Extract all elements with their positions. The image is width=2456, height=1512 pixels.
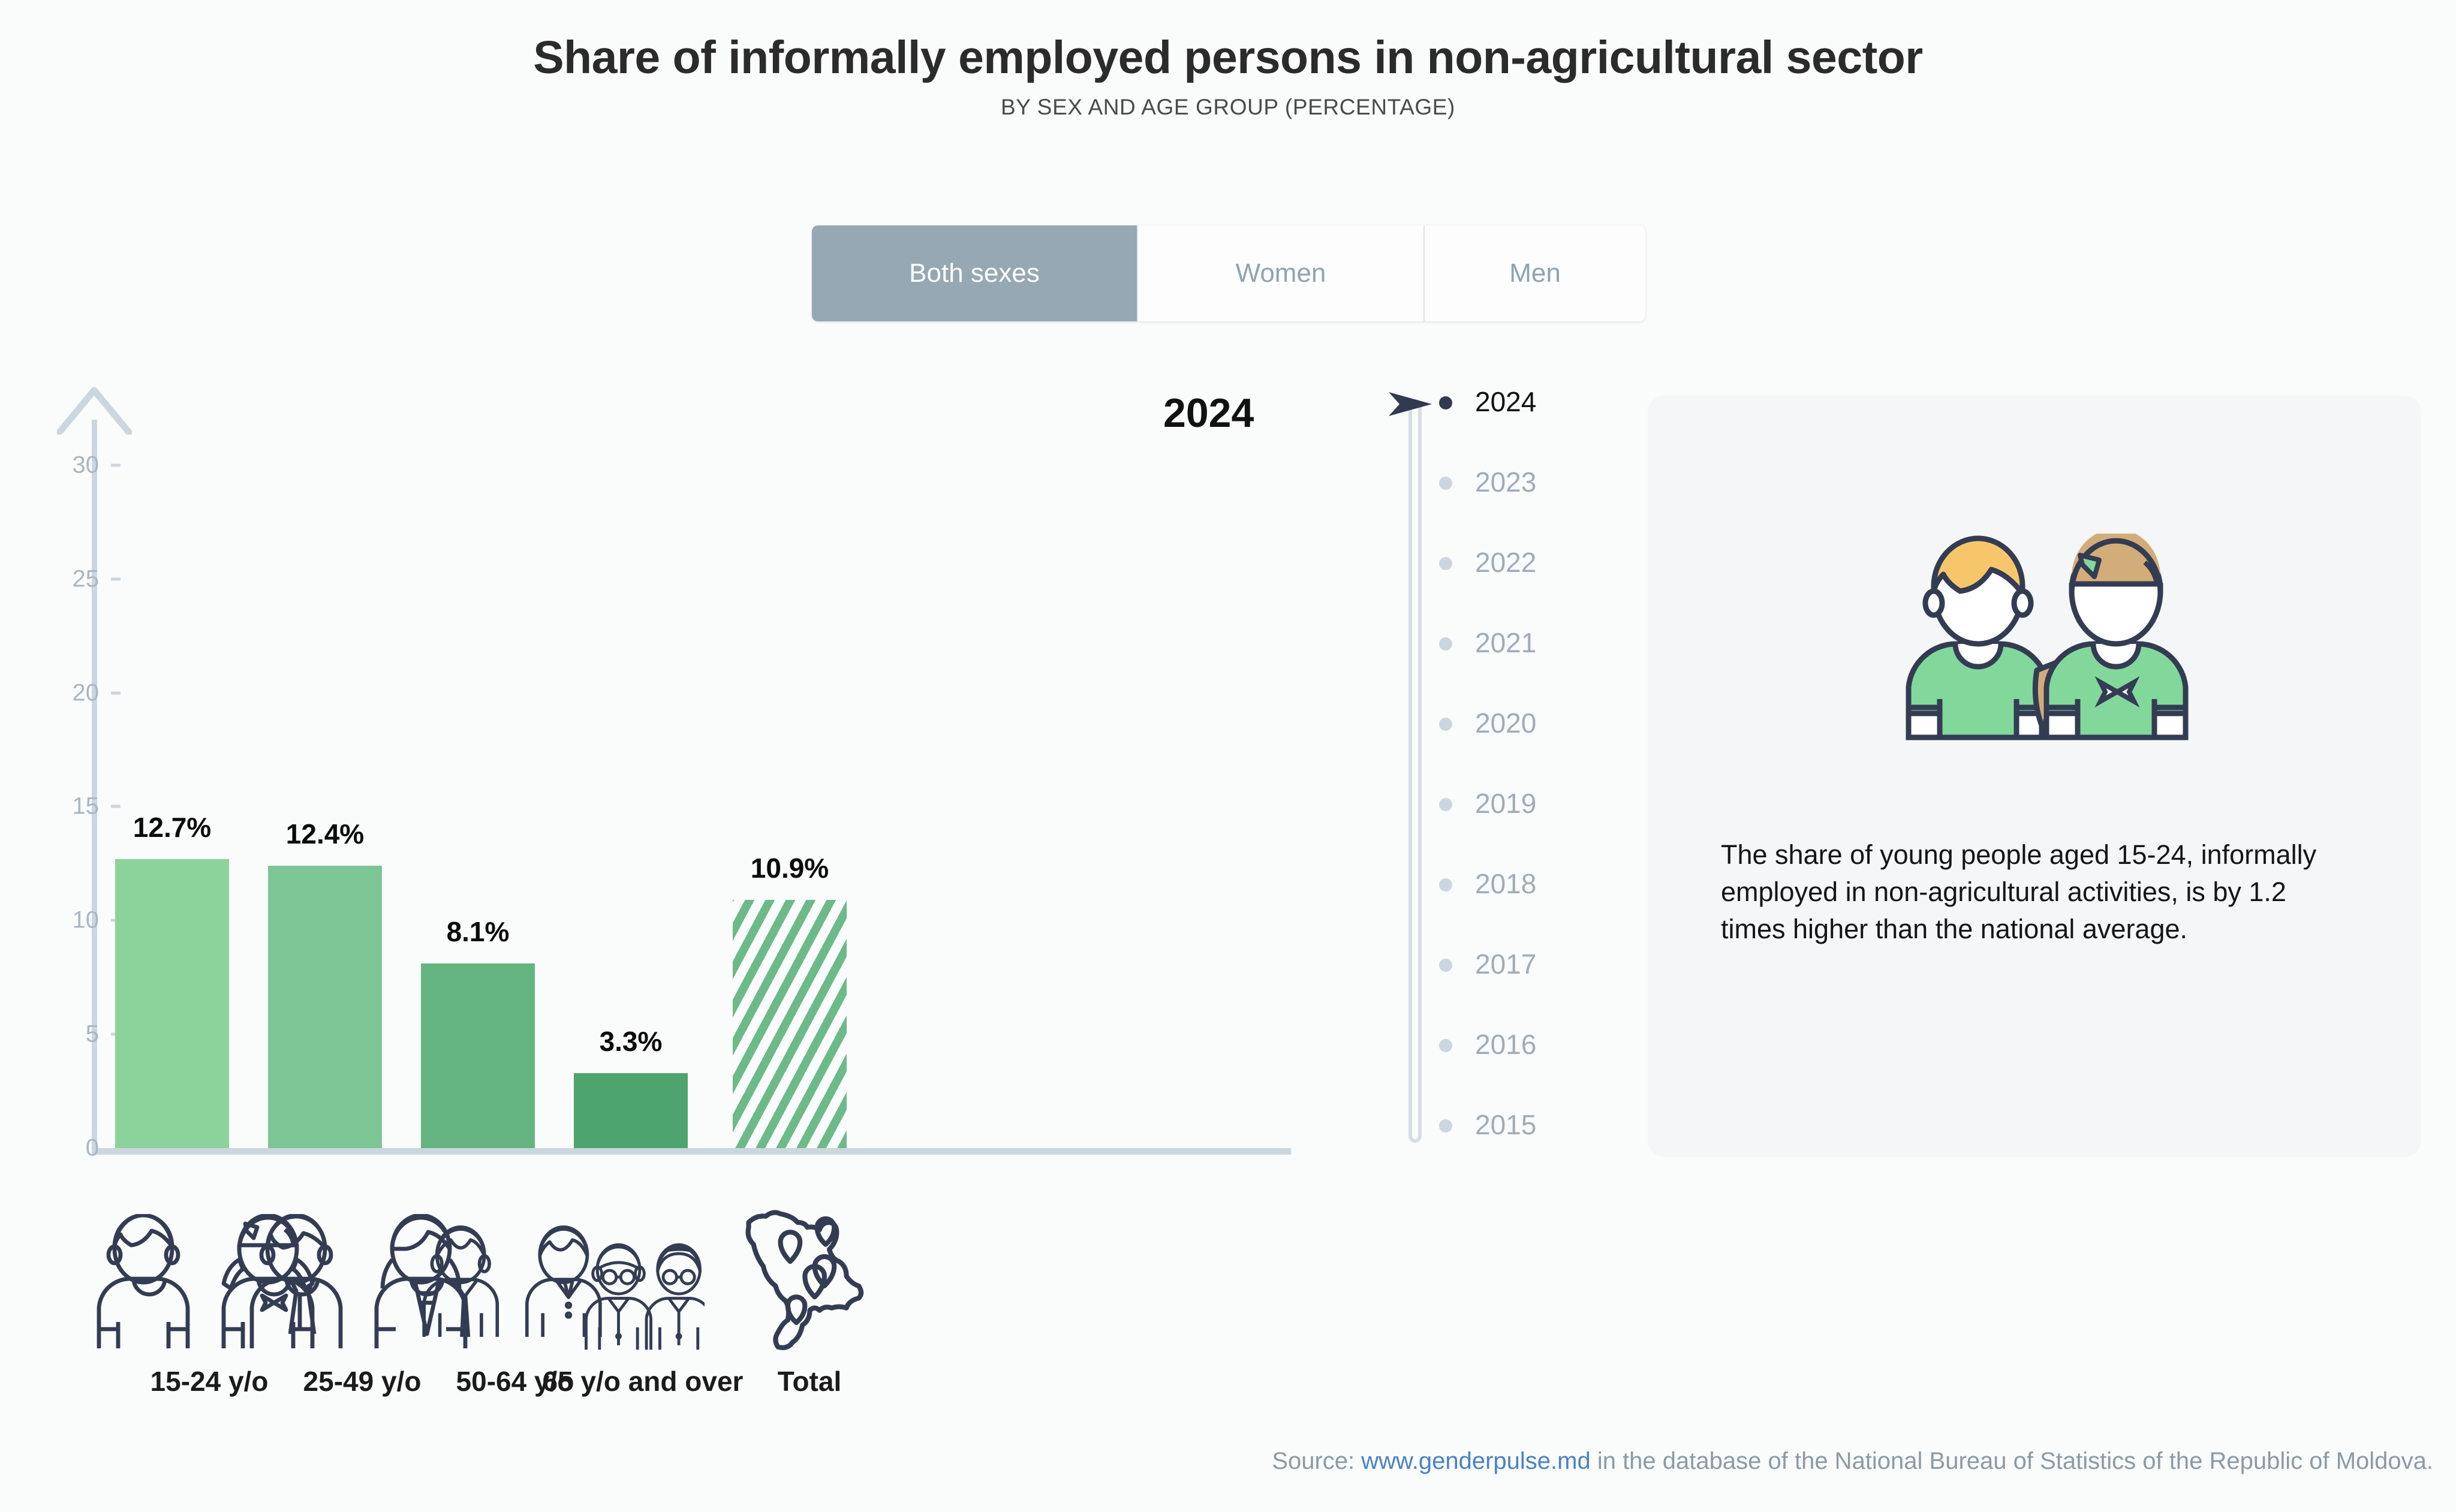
- category-item[interactable]: Total: [711, 1190, 908, 1397]
- source-footer: Source: www.genderpulse.md in the databa…: [0, 1448, 2433, 1475]
- timeline-year-label: 2020: [1475, 705, 1536, 741]
- category-label: Total: [711, 1365, 908, 1397]
- timeline-dot: [1439, 557, 1452, 570]
- year-timeline: 2024202320222021202020192018201720162015: [1391, 384, 1631, 1163]
- timeline-year-item[interactable]: 2021: [1391, 625, 1631, 661]
- page-subtitle: BY SEX AND AGE GROUP (PERCENTAGE): [0, 95, 2456, 120]
- info-illustration: [1648, 534, 2421, 773]
- timeline-year-item[interactable]: 2017: [1391, 946, 1631, 982]
- source-suffix: in the database of the National Bureau o…: [1591, 1448, 2433, 1474]
- info-text: The share of young people aged 15-24, in…: [1721, 836, 2344, 948]
- page-title: Share of informally employed persons in …: [0, 31, 2456, 85]
- y-tick-label: 10: [33, 907, 99, 934]
- bar-column[interactable]: 12.4%: [268, 420, 382, 1148]
- y-tick-label: 30: [33, 451, 99, 478]
- timeline-dot: [1439, 1119, 1452, 1133]
- timeline-year-label: 2019: [1475, 785, 1536, 821]
- timeline-year-label: 2018: [1475, 866, 1536, 902]
- timeline-dot: [1439, 396, 1452, 409]
- timeline-year-label: 2024: [1475, 384, 1536, 420]
- bar-column[interactable]: 3.3%: [574, 420, 688, 1148]
- timeline-dot: [1439, 637, 1452, 650]
- tab-women[interactable]: Women: [1138, 225, 1425, 321]
- moldova-map-icon: [711, 1190, 908, 1352]
- timeline-year-item[interactable]: 2016: [1391, 1026, 1631, 1062]
- timeline-year-label: 2023: [1475, 464, 1536, 500]
- category-axis: 15-24 y/o 25-49 y/o: [0, 1190, 1349, 1442]
- bar-value-label: 3.3%: [600, 1025, 663, 1058]
- boy-figure: [1909, 538, 2048, 737]
- tab-men[interactable]: Men: [1425, 225, 1645, 321]
- arrow-right-icon: [1386, 390, 1434, 418]
- timeline-dot: [1439, 1039, 1452, 1052]
- bar-column[interactable]: 10.9%: [733, 420, 847, 1148]
- bar[interactable]: [574, 1073, 688, 1148]
- tab-both-sexes[interactable]: Both sexes: [812, 225, 1138, 321]
- bar[interactable]: [268, 866, 382, 1148]
- bar-value-label: 10.9%: [751, 852, 829, 884]
- y-tick-label: 5: [33, 1021, 99, 1048]
- timeline-year-item[interactable]: 2018: [1391, 866, 1631, 902]
- source-prefix: Source:: [1272, 1448, 1361, 1474]
- y-tick-label: 0: [33, 1135, 99, 1162]
- timeline-year-item[interactable]: 2019: [1391, 785, 1631, 821]
- timeline-dot: [1439, 959, 1452, 972]
- page-root: Share of informally employed persons in …: [0, 0, 2456, 1512]
- timeline-year-item[interactable]: 2020: [1391, 705, 1631, 741]
- bar-column[interactable]: 8.1%: [421, 420, 535, 1148]
- timeline-year-label: 2022: [1475, 544, 1536, 580]
- bar-value-label: 12.7%: [133, 811, 211, 844]
- bar-value-label: 12.4%: [286, 818, 364, 850]
- timeline-year-item[interactable]: 2015: [1391, 1107, 1631, 1143]
- y-tick-label: 15: [33, 793, 99, 820]
- timeline-year-label: 2021: [1475, 625, 1536, 661]
- timeline-year-item[interactable]: 2022: [1391, 544, 1631, 580]
- bar[interactable]: [115, 859, 229, 1148]
- timeline-year-item[interactable]: 2023: [1391, 464, 1631, 500]
- bar-column[interactable]: 12.7%: [115, 420, 229, 1148]
- bar[interactable]: [421, 963, 535, 1148]
- info-panel: [1648, 396, 2421, 1157]
- timeline-year-item[interactable]: 2024: [1391, 384, 1631, 420]
- timeline-dot: [1439, 878, 1452, 891]
- timeline-dot: [1439, 477, 1452, 490]
- bar-series: 12.7%12.4%8.1%3.3%10.9%: [97, 420, 1290, 1148]
- timeline-dot: [1439, 718, 1452, 731]
- bar[interactable]: [733, 900, 847, 1148]
- x-axis-line: [92, 1148, 1291, 1155]
- timeline-year-label: 2015: [1475, 1107, 1536, 1143]
- y-tick-label: 25: [33, 565, 99, 592]
- y-tick-label: 20: [33, 679, 99, 706]
- girl-figure: [2035, 534, 2186, 737]
- timeline-year-label: 2017: [1475, 946, 1536, 982]
- timeline-dot: [1439, 798, 1452, 811]
- bar-value-label: 8.1%: [447, 915, 510, 948]
- sex-tab-group: Both sexes Women Men: [812, 225, 1645, 321]
- timeline-year-label: 2016: [1475, 1026, 1536, 1062]
- source-link[interactable]: www.genderpulse.md: [1361, 1448, 1590, 1474]
